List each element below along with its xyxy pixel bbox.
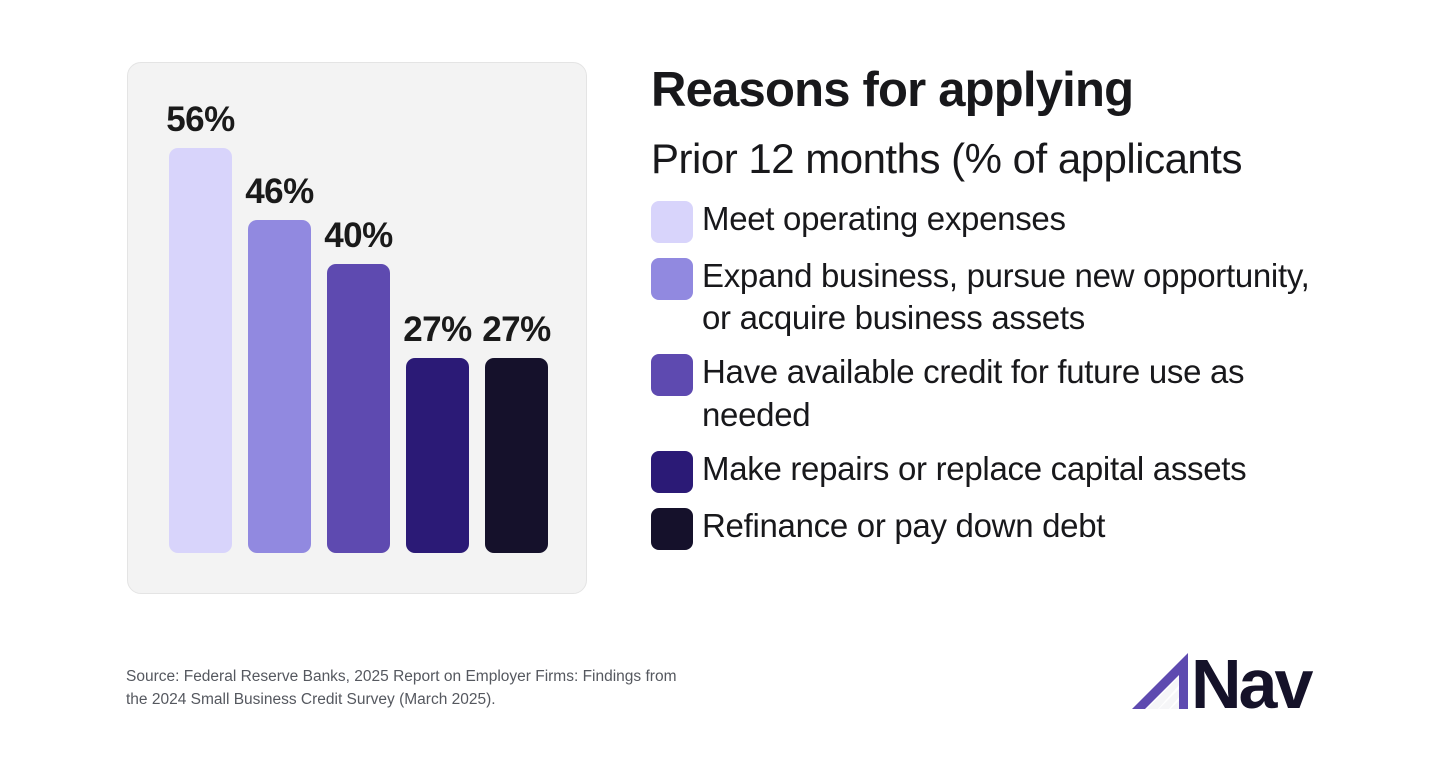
bar-column: 40% bbox=[327, 218, 390, 553]
source-citation: Source: Federal Reserve Banks, 2025 Repo… bbox=[126, 666, 686, 712]
bar-value-label: 40% bbox=[324, 218, 393, 253]
legend-item: Meet operating expenses bbox=[651, 198, 1351, 243]
legend-item: Refinance or pay down debt bbox=[651, 505, 1351, 550]
svg-text:Nav: Nav bbox=[1191, 649, 1313, 715]
bar bbox=[485, 358, 548, 553]
bar-value-label: 27% bbox=[403, 312, 472, 347]
legend-swatch-icon bbox=[651, 451, 693, 493]
bar-column: 56% bbox=[169, 102, 232, 553]
nav-logo-svg: Nav bbox=[1131, 649, 1315, 715]
chart-subtitle: Prior 12 months (% of applicants bbox=[651, 135, 1351, 182]
legend-swatch-icon bbox=[651, 201, 693, 243]
bar-value-label: 46% bbox=[245, 174, 314, 209]
nav-logo-mark-icon bbox=[1132, 653, 1188, 709]
chart-card: 56%46%40%27%27% bbox=[127, 62, 587, 594]
bar-value-label: 27% bbox=[482, 312, 551, 347]
nav-logo: Nav bbox=[1131, 648, 1315, 716]
chart-info-panel: Reasons for applying Prior 12 months (% … bbox=[651, 62, 1351, 562]
legend-label: Refinance or pay down debt bbox=[702, 505, 1105, 547]
bar bbox=[248, 220, 311, 553]
legend-swatch-icon bbox=[651, 258, 693, 300]
legend-item: Have available credit for future use as … bbox=[651, 351, 1351, 435]
legend-label: Have available credit for future use as … bbox=[702, 351, 1322, 435]
chart-legend: Meet operating expensesExpand business, … bbox=[651, 198, 1351, 550]
nav-logo-wordmark: Nav bbox=[1191, 649, 1313, 715]
bar bbox=[327, 264, 390, 553]
bar bbox=[169, 148, 232, 553]
legend-label: Make repairs or replace capital assets bbox=[702, 448, 1246, 490]
legend-label: Meet operating expenses bbox=[702, 198, 1066, 240]
bar-column: 27% bbox=[406, 312, 469, 553]
bar-value-label: 56% bbox=[166, 102, 235, 137]
legend-label: Expand business, pursue new opportunity,… bbox=[702, 255, 1322, 339]
bar-column: 27% bbox=[485, 312, 548, 553]
chart-title: Reasons for applying bbox=[651, 62, 1351, 117]
bar bbox=[406, 358, 469, 553]
legend-swatch-icon bbox=[651, 508, 693, 550]
legend-swatch-icon bbox=[651, 354, 693, 396]
legend-item: Make repairs or replace capital assets bbox=[651, 448, 1351, 493]
bar-chart-plot-area: 56%46%40%27%27% bbox=[128, 63, 586, 593]
legend-item: Expand business, pursue new opportunity,… bbox=[651, 255, 1351, 339]
bar-column: 46% bbox=[248, 174, 311, 553]
